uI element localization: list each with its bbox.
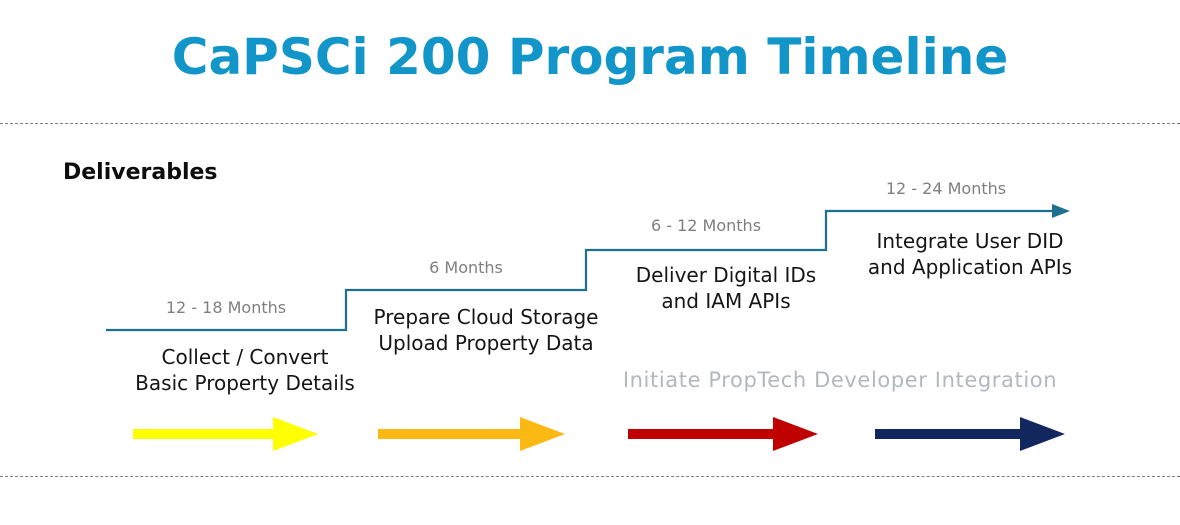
stage-arrow-row: [0, 405, 1180, 460]
page-title: CaPSCi 200 Program Timeline: [0, 28, 1180, 86]
stage-2-arrow-icon: [378, 417, 565, 451]
stage-3-label-line2: and IAM APIs: [580, 288, 872, 314]
stage-4-label: Integrate User DID and Application APIs: [820, 228, 1120, 281]
stage-2-label-line2: Upload Property Data: [340, 330, 632, 356]
stage-1-label-line2: Basic Property Details: [100, 370, 390, 396]
stage-3-duration: 6 - 12 Months: [586, 216, 826, 235]
proptech-integration-note: Initiate PropTech Developer Integration: [600, 368, 1080, 392]
deliverables-heading: Deliverables: [63, 160, 218, 185]
stage-4-label-line2: and Application APIs: [820, 254, 1120, 280]
slide-canvas: CaPSCi 200 Program Timeline Deliverables…: [0, 0, 1180, 525]
stage-2-duration: 6 Months: [346, 258, 586, 277]
stage-4-arrow-icon: [875, 417, 1065, 451]
stage-3-arrow-icon: [628, 417, 818, 451]
divider-top: [0, 123, 1180, 124]
stage-1-duration: 12 - 18 Months: [106, 298, 346, 317]
timeline-arrowhead-icon: [1052, 204, 1070, 218]
stage-1-arrow-icon: [133, 417, 318, 451]
stage-4-duration: 12 - 24 Months: [826, 179, 1066, 198]
divider-bottom: [0, 476, 1180, 477]
stage-4-label-line1: Integrate User DID: [820, 228, 1120, 254]
